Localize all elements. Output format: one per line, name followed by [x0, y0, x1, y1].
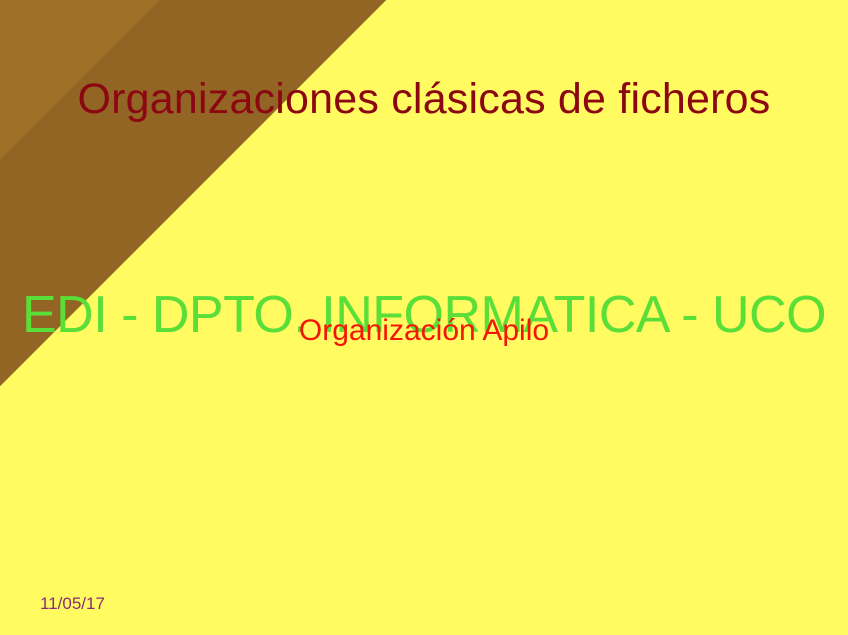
slide-date: 11/05/17 [40, 594, 105, 613]
slide-date-container: 11/05/17 [40, 594, 105, 614]
slide-subtitle-container: Organización Apilo [0, 315, 848, 347]
slide-title-container: Organizaciones clásicas de ficheros [0, 46, 848, 152]
presentation-slide: Organizaciones clásicas de ficheros EDI … [0, 0, 848, 635]
slide-subtitle: Organización Apilo [299, 315, 549, 347]
page-title: Organizaciones clásicas de ficheros [78, 75, 771, 123]
